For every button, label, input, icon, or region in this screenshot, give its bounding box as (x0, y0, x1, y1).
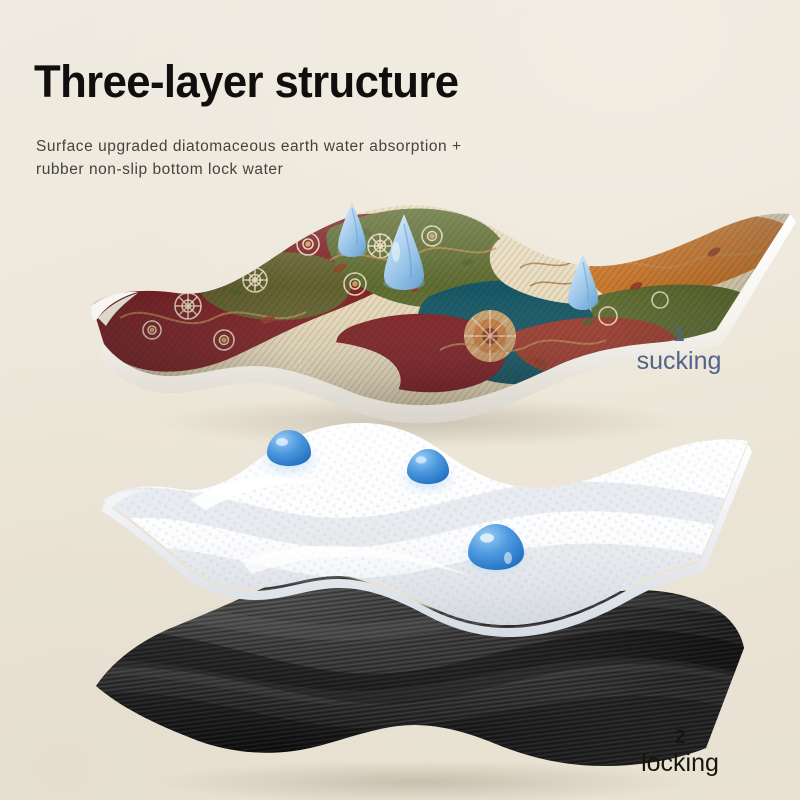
water-droplet-carpet-1 (337, 202, 367, 257)
page-subtitle: Surface upgraded diatomaceous earth wate… (36, 136, 466, 182)
callout-2-label: locking (613, 749, 747, 778)
callout-layer-2: 2 locking (613, 727, 747, 778)
page-title: Three-layer structure (34, 59, 458, 104)
callout-1-label: sucking (612, 347, 746, 376)
callout-1-number: 1 (612, 325, 746, 347)
infographic-canvas: Three-layer structure Surface upgraded d… (0, 0, 800, 800)
callout-2-number: 2 (613, 727, 747, 749)
three-layer-illustration (0, 0, 800, 800)
callout-layer-1: 1 sucking (612, 325, 746, 376)
layer-patterned-carpet (70, 190, 800, 424)
